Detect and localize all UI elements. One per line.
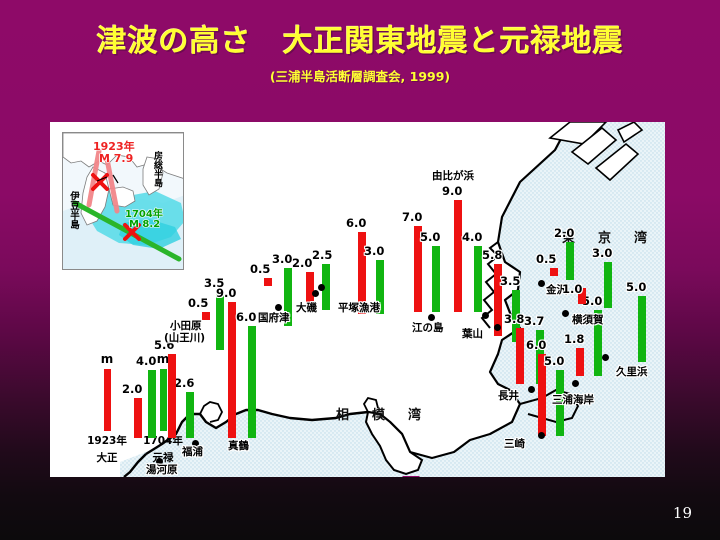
bar-genroku-yuigahama [474, 246, 482, 312]
value-genroku-yuigahama: 4.0 [462, 230, 482, 244]
station-dot-nagai [528, 386, 535, 393]
value-taisho-odawara-small: 0.5 [188, 296, 208, 310]
bar-genroku-manazuru [248, 326, 256, 438]
station-label-yuigahama: 由比が浜 [432, 170, 474, 182]
bar-taisho-kouzu [264, 278, 272, 286]
station-label-odawara: 小田原 [170, 320, 202, 332]
bar-genroku-yokosuka [604, 262, 612, 308]
tsunami-height-map: 1923年 M 7.9 1704年 M 8.2 伊豆半島 房総半島 m 1923… [50, 122, 665, 477]
bar-taisho-yugawara [134, 398, 142, 438]
legend-item-taisho: m 1923年 大正 [84, 352, 130, 465]
value-genroku-enoshima: 5.0 [420, 230, 440, 244]
station-label-manazuru: 真鶴 [228, 440, 249, 452]
value-genroku-kanazawa: 2.0 [554, 226, 574, 240]
value-genroku-yokosuka: 3.0 [592, 246, 612, 260]
station-label-nagai: 長井 [498, 390, 519, 402]
value-genroku-kouzu: 3.0 [272, 252, 292, 266]
value-taisho-oiso: 2.0 [292, 256, 312, 270]
legend-item-genroku: m 1704年 元禄 [140, 352, 186, 465]
sea-label-tokyo-bay: 東 京 湾 [562, 227, 652, 246]
value-taisho-hayama: 5.8 [482, 248, 502, 262]
value-taisho-yuigahama: 9.0 [442, 184, 462, 198]
slide-marker-triangle [402, 476, 420, 477]
station-label-odawara-river: (山王川) [164, 332, 205, 344]
legend-swatch-taisho [104, 369, 111, 431]
value-taisho-kanazawa: 0.5 [536, 252, 556, 266]
page-title: 津波の高さ 大正関東地震と元禄地震 [0, 16, 720, 60]
legend-swatch-genroku [160, 369, 167, 431]
legend-label-genroku-year: 1704年 [140, 435, 186, 448]
station-dot-misaki [538, 432, 545, 439]
value-taisho-nagai: 3.8 [504, 312, 524, 326]
bar-taisho-miurakaigan [576, 348, 584, 376]
value-taisho-hiratsuka: 6.0 [346, 216, 366, 230]
station-label-kouzu: 国府津 [258, 312, 290, 324]
legend-unit-taisho: m [84, 352, 130, 366]
legend-label-taisho-year: 1923年 [84, 435, 130, 448]
value-genroku-oiso: 2.5 [312, 248, 332, 262]
station-dot-oiso [312, 290, 319, 297]
station-label-fukuura: 福浦 [182, 446, 203, 458]
station-dot-enoshima [428, 314, 435, 321]
station-label-miurakaigan: 三浦海岸 [552, 394, 594, 406]
value-genroku-misaki: 5.0 [544, 354, 564, 368]
bar-genroku-yugawara [148, 370, 156, 438]
value-genroku-kurihama: 5.0 [626, 280, 646, 294]
value-taisho-kouzu: 0.5 [250, 262, 270, 276]
bar-taisho-yuigahama [454, 200, 462, 312]
page-subtitle: (三浦半島活断層調査会, 1999) [0, 66, 720, 85]
page-number: 19 [673, 504, 692, 522]
station-label-yokosuka: 横須賀 [572, 314, 604, 326]
value-taisho-yugawara: 2.0 [122, 382, 142, 396]
slide-title-block: 津波の高さ 大正関東地震と元禄地震 (三浦半島活断層調査会, 1999) [0, 16, 720, 85]
bar-genroku-kurihama [638, 296, 646, 362]
station-dot-kouzu [275, 304, 282, 311]
bar-taisho-odawara [168, 354, 176, 438]
value-taisho-manazuru: 9.0 [216, 286, 236, 300]
value-genroku-hayama: 3.5 [500, 274, 520, 288]
station-label-misaki: 三崎 [504, 438, 525, 450]
station-dot-hiratsuka [318, 284, 325, 291]
station-dot-yuigahama [482, 312, 489, 319]
station-dot-miurakaigan [572, 380, 579, 387]
station-dot-yokosuka [562, 310, 569, 317]
station-label-enoshima: 江の島 [412, 322, 444, 334]
bar-taisho-odawara-small [202, 312, 210, 320]
station-dot-kanazawa [538, 280, 545, 287]
bar-genroku-odawara [216, 292, 224, 350]
value-taisho-misaki: 6.0 [526, 338, 546, 352]
station-dot-kurihama [602, 354, 609, 361]
value-genroku-hiratsuka: 3.0 [364, 244, 384, 258]
value-genroku-fukuura: 2.6 [174, 376, 194, 390]
station-label-yugawara: 湯河原 [146, 464, 178, 476]
bar-taisho-manazuru [228, 302, 236, 438]
bar-genroku-fukuura [186, 392, 194, 438]
station-dot-hayama [494, 324, 501, 331]
station-label-hayama: 葉山 [462, 328, 483, 340]
value-genroku-yugawara: 4.0 [136, 354, 156, 368]
bar-taisho-kanazawa [550, 268, 558, 276]
inset-location-map: 1923年 M 7.9 1704年 M 8.2 伊豆半島 房総半島 [62, 132, 184, 270]
value-taisho-enoshima: 7.0 [402, 210, 422, 224]
station-label-kurihama: 久里浜 [616, 366, 648, 378]
value-taisho-miurakaigan: 1.8 [564, 332, 584, 346]
station-label-oiso: 大磯 [296, 302, 317, 314]
bar-taisho-nagai [516, 328, 524, 384]
value-genroku-nagai: 3.7 [524, 314, 544, 328]
value-genroku-manazuru: 6.0 [236, 310, 256, 324]
bar-genroku-kanazawa [566, 242, 574, 280]
sea-label-sagami-bay: 相 模 湾 [336, 404, 426, 423]
legend-label-taisho-era: 大正 [84, 452, 130, 465]
bar-genroku-enoshima [432, 246, 440, 312]
value-taisho-yokosuka: 1.0 [562, 282, 582, 296]
station-label-hiratsuka: 平塚漁港 [338, 302, 380, 314]
